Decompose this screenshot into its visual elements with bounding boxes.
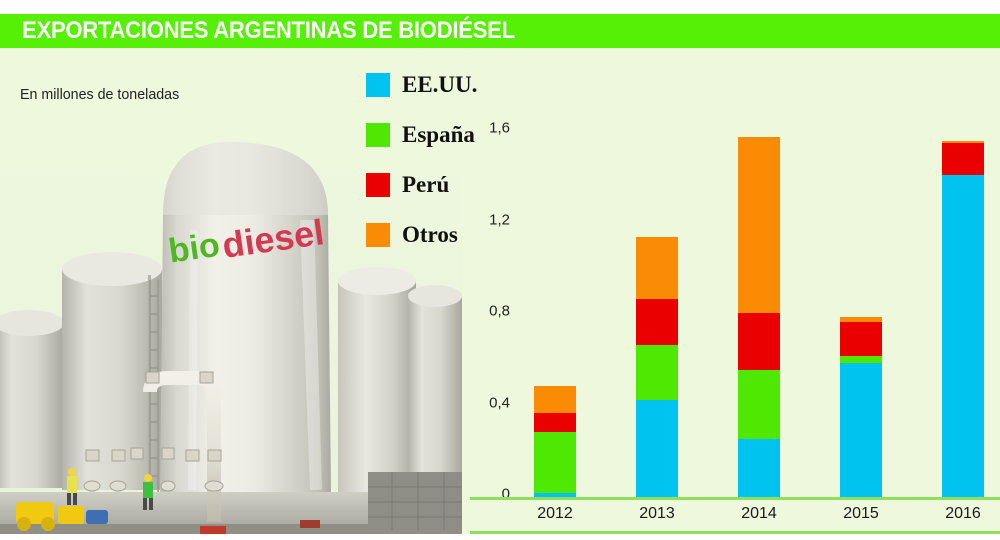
stacked-bar-chart: 00,40,81,21,6 — [470, 110, 1000, 540]
bar-segment-2014-eeuu — [738, 439, 780, 498]
infographic-root: EXPORTACIONES ARGENTINAS DE BIODIÉSEL En… — [0, 0, 1000, 540]
bar-segment-2014-per — [738, 313, 780, 370]
red-equipment-2 — [300, 520, 320, 528]
chart-plot-area — [522, 110, 1000, 498]
svg-text:bio: bio — [166, 226, 222, 271]
y-axis-tick-2: 0,8 — [489, 303, 510, 320]
bar-group-2013[interactable] — [636, 237, 678, 498]
bar-segment-2014-espaa — [738, 370, 780, 439]
legend-item-eeuu[interactable]: EE.UU. — [366, 68, 477, 102]
bar-segment-2013-espaa — [636, 345, 678, 400]
x-axis-label-2013: 2013 — [627, 505, 687, 523]
legend-swatch-espana — [366, 123, 390, 147]
legend-label-espana: España — [402, 122, 475, 148]
bar-segment-2013-eeuu — [636, 400, 678, 498]
bar-segment-2015-eeuu — [840, 363, 882, 498]
bar-group-2015[interactable] — [840, 317, 882, 498]
y-axis-tick-1: 0,4 — [489, 394, 510, 411]
x-axis-label-2015: 2015 — [831, 505, 891, 523]
bar-group-2016[interactable] — [942, 141, 984, 498]
bar-segment-2013-otros — [636, 237, 678, 299]
chart-legend: EE.UU. España Perú Otros — [366, 68, 477, 268]
bar-group-2012[interactable] — [534, 386, 576, 498]
y-axis-tick-3: 1,2 — [489, 211, 510, 228]
x-axis-label-2014: 2014 — [729, 505, 789, 523]
y-axis-tick-4: 1,6 — [489, 120, 510, 137]
bar-segment-2016-eeuu — [942, 175, 984, 498]
legend-swatch-eeuu — [366, 73, 390, 97]
legend-item-otros[interactable]: Otros — [366, 218, 477, 252]
top-white-strip — [0, 0, 1000, 14]
legend-item-peru[interactable]: Perú — [366, 168, 477, 202]
bar-segment-2015-espaa — [840, 356, 882, 363]
page-title: EXPORTACIONES ARGENTINAS DE BIODIÉSEL — [22, 18, 515, 44]
bar-group-2014[interactable] — [738, 137, 780, 498]
chart-units-subtitle: En millones de toneladas — [20, 86, 179, 103]
legend-label-peru: Perú — [402, 172, 449, 198]
legend-label-otros: Otros — [402, 222, 458, 248]
bar-segment-2015-per — [840, 322, 882, 356]
bar-segment-2012-per — [534, 413, 576, 431]
x-axis-label-2012: 2012 — [525, 505, 585, 523]
legend-label-eeuu: EE.UU. — [402, 72, 477, 98]
bar-segment-2013-per — [636, 299, 678, 345]
legend-swatch-otros — [366, 223, 390, 247]
bar-segment-2016-per — [942, 143, 984, 175]
storage-tank-right — [338, 267, 462, 495]
y-axis-labels: 00,40,81,21,6 — [470, 110, 514, 510]
storage-tank-far-left — [0, 310, 64, 488]
concrete-wall — [368, 472, 462, 530]
x-axis-label-2016: 2016 — [933, 505, 993, 523]
x-axis-labels: 20122013201420152016 — [470, 500, 1000, 530]
bar-segment-2014-otros — [738, 137, 780, 313]
legend-swatch-peru — [366, 173, 390, 197]
bar-segment-2012-espaa — [534, 432, 576, 494]
bar-segment-2012-otros — [534, 386, 576, 413]
bottom-white-strip — [0, 534, 1000, 540]
legend-item-espana[interactable]: España — [366, 118, 477, 152]
